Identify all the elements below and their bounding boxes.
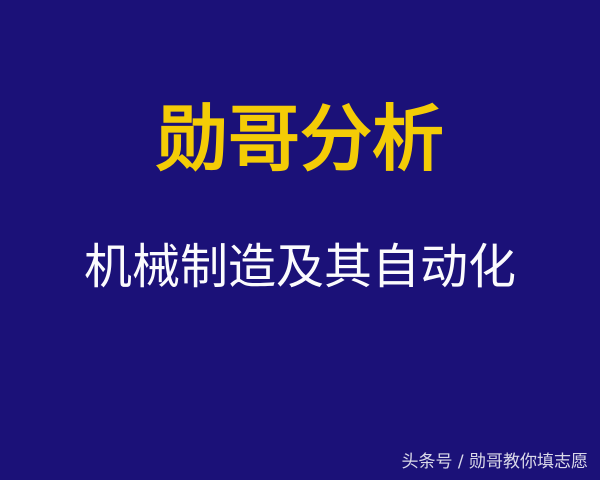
watermark-attribution: 头条号 / 勋哥教你填志愿 [401,452,588,472]
page-subtitle: 机械制造及其自动化 [84,238,516,296]
slide-canvas: 勋哥分析 机械制造及其自动化 头条号 / 勋哥教你填志愿 [0,0,600,480]
subtitle-container: 机械制造及其自动化 [0,238,600,296]
page-title: 勋哥分析 [156,98,444,180]
title-container: 勋哥分析 [0,98,600,180]
